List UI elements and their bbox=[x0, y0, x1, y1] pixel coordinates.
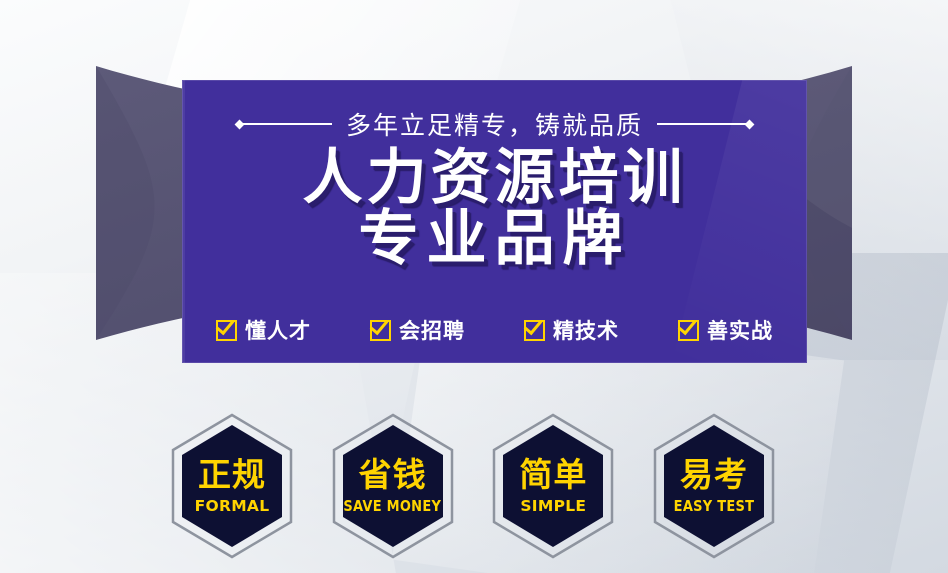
ribbon-banner: 多年立足精专，铸就品质 人力资源培训 专业品牌 懂人才 会招聘 精技术 bbox=[34, 18, 914, 378]
tagline: 多年立足精专，铸就品质 bbox=[182, 106, 807, 142]
tagline-rule-right-icon bbox=[657, 123, 749, 125]
badge-easy-test: 易考 EASY TEST bbox=[650, 412, 778, 560]
tagline-text: 多年立足精专，铸就品质 bbox=[346, 106, 643, 142]
feature-item: 善实战 bbox=[678, 315, 773, 345]
feature-list: 懂人才 会招聘 精技术 善实战 bbox=[216, 315, 773, 345]
hexagon-icon bbox=[650, 412, 778, 560]
headline-line-1: 人力资源培训 bbox=[182, 148, 807, 209]
feature-item: 懂人才 bbox=[216, 315, 311, 345]
feature-label: 会招聘 bbox=[399, 315, 465, 345]
badge-formal: 正规 FORMAL bbox=[168, 412, 296, 560]
banner-panel: 多年立足精专，铸就品质 人力资源培训 专业品牌 懂人才 会招聘 精技术 bbox=[182, 80, 807, 363]
feature-label: 懂人才 bbox=[245, 315, 311, 345]
headline-line-2: 专业品牌 bbox=[182, 209, 807, 270]
feature-label: 精技术 bbox=[553, 315, 619, 345]
feature-item: 会招聘 bbox=[370, 315, 465, 345]
feature-item: 精技术 bbox=[524, 315, 619, 345]
badge-list: 正规 FORMAL 省钱 SAVE MONEY 简单 SIMPLE bbox=[168, 412, 778, 560]
tagline-rule-left-icon bbox=[240, 123, 332, 125]
hexagon-icon bbox=[489, 412, 617, 560]
headline: 人力资源培训 专业品牌 bbox=[182, 148, 807, 270]
check-icon bbox=[678, 320, 699, 341]
badge-save-money: 省钱 SAVE MONEY bbox=[329, 412, 457, 560]
promo-banner: 多年立足精专，铸就品质 人力资源培训 专业品牌 懂人才 会招聘 精技术 bbox=[0, 0, 948, 573]
badge-simple: 简单 SIMPLE bbox=[489, 412, 617, 560]
check-icon bbox=[370, 320, 391, 341]
check-icon bbox=[524, 320, 545, 341]
hexagon-icon bbox=[168, 412, 296, 560]
hexagon-icon bbox=[329, 412, 457, 560]
feature-label: 善实战 bbox=[707, 315, 773, 345]
check-icon bbox=[216, 320, 237, 341]
